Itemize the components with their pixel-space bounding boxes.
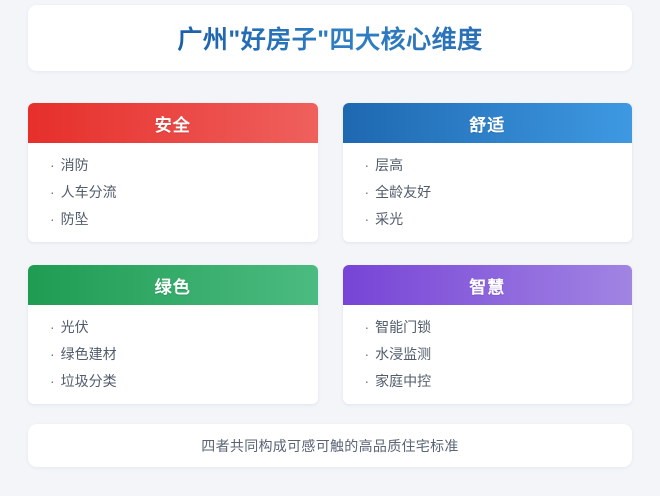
dimension-header-green: 绿色 — [28, 265, 318, 305]
bullet-icon: · — [365, 320, 370, 334]
bullet-icon: · — [365, 347, 370, 361]
list-item-label: 消防 — [61, 158, 89, 172]
list-item: · 绿色建材 — [50, 347, 318, 361]
dimension-body-smart: · 智能门锁 · 水浸监测 · 家庭中控 — [343, 305, 633, 404]
list-item: · 光伏 — [50, 320, 318, 334]
list-item: · 人车分流 — [50, 185, 318, 199]
bullet-icon: · — [50, 158, 55, 172]
bullet-icon: · — [50, 185, 55, 199]
list-item: · 家庭中控 — [365, 374, 633, 388]
bullet-icon: · — [365, 185, 370, 199]
list-item-label: 全龄友好 — [375, 185, 431, 199]
dimension-body-comfort: · 层高 · 全龄友好 · 采光 — [343, 143, 633, 242]
bullet-icon: · — [365, 158, 370, 172]
list-item-label: 绿色建材 — [61, 347, 117, 361]
footer-card: 四者共同构成可感可触的高品质住宅标准 — [28, 424, 632, 467]
dimension-body-green: · 光伏 · 绿色建材 · 垃圾分类 — [28, 305, 318, 404]
page-title: 广州"好房子"四大核心维度 — [177, 20, 482, 56]
list-item-label: 家庭中控 — [375, 374, 431, 388]
bullet-icon: · — [50, 374, 55, 388]
list-item-label: 采光 — [375, 212, 403, 226]
list-item: · 消防 — [50, 158, 318, 172]
list-item-label: 层高 — [375, 158, 403, 172]
bullet-icon: · — [50, 347, 55, 361]
dimension-header-safety: 安全 — [28, 103, 318, 143]
bullet-icon: · — [50, 320, 55, 334]
list-item: · 全龄友好 — [365, 185, 633, 199]
dimension-header-comfort: 舒适 — [343, 103, 633, 143]
list-item-label: 垃圾分类 — [61, 374, 117, 388]
list-item: · 采光 — [365, 212, 633, 226]
list-item: · 防坠 — [50, 212, 318, 226]
title-card: 广州"好房子"四大核心维度 — [28, 5, 632, 71]
dimension-card-safety: 安全 · 消防 · 人车分流 · 防坠 — [28, 103, 318, 242]
dimension-body-safety: · 消防 · 人车分流 · 防坠 — [28, 143, 318, 242]
dimension-card-green: 绿色 · 光伏 · 绿色建材 · 垃圾分类 — [28, 265, 318, 404]
list-item-label: 水浸监测 — [375, 347, 431, 361]
list-item: · 智能门锁 — [365, 320, 633, 334]
list-item-label: 防坠 — [61, 212, 89, 226]
list-item: · 层高 — [365, 158, 633, 172]
list-item: · 水浸监测 — [365, 347, 633, 361]
infographic-page: 广州"好房子"四大核心维度 安全 · 消防 · 人车分流 · 防坠 舒适 — [0, 0, 660, 496]
footer-summary: 四者共同构成可感可触的高品质住宅标准 — [201, 436, 458, 456]
list-item-label: 智能门锁 — [375, 320, 431, 334]
dimension-grid: 安全 · 消防 · 人车分流 · 防坠 舒适 · — [28, 103, 632, 404]
dimension-header-smart: 智慧 — [343, 265, 633, 305]
list-item: · 垃圾分类 — [50, 374, 318, 388]
list-item-label: 光伏 — [61, 320, 89, 334]
bullet-icon: · — [365, 374, 370, 388]
bullet-icon: · — [365, 212, 370, 226]
list-item-label: 人车分流 — [61, 185, 117, 199]
bullet-icon: · — [50, 212, 55, 226]
dimension-card-smart: 智慧 · 智能门锁 · 水浸监测 · 家庭中控 — [343, 265, 633, 404]
dimension-card-comfort: 舒适 · 层高 · 全龄友好 · 采光 — [343, 103, 633, 242]
